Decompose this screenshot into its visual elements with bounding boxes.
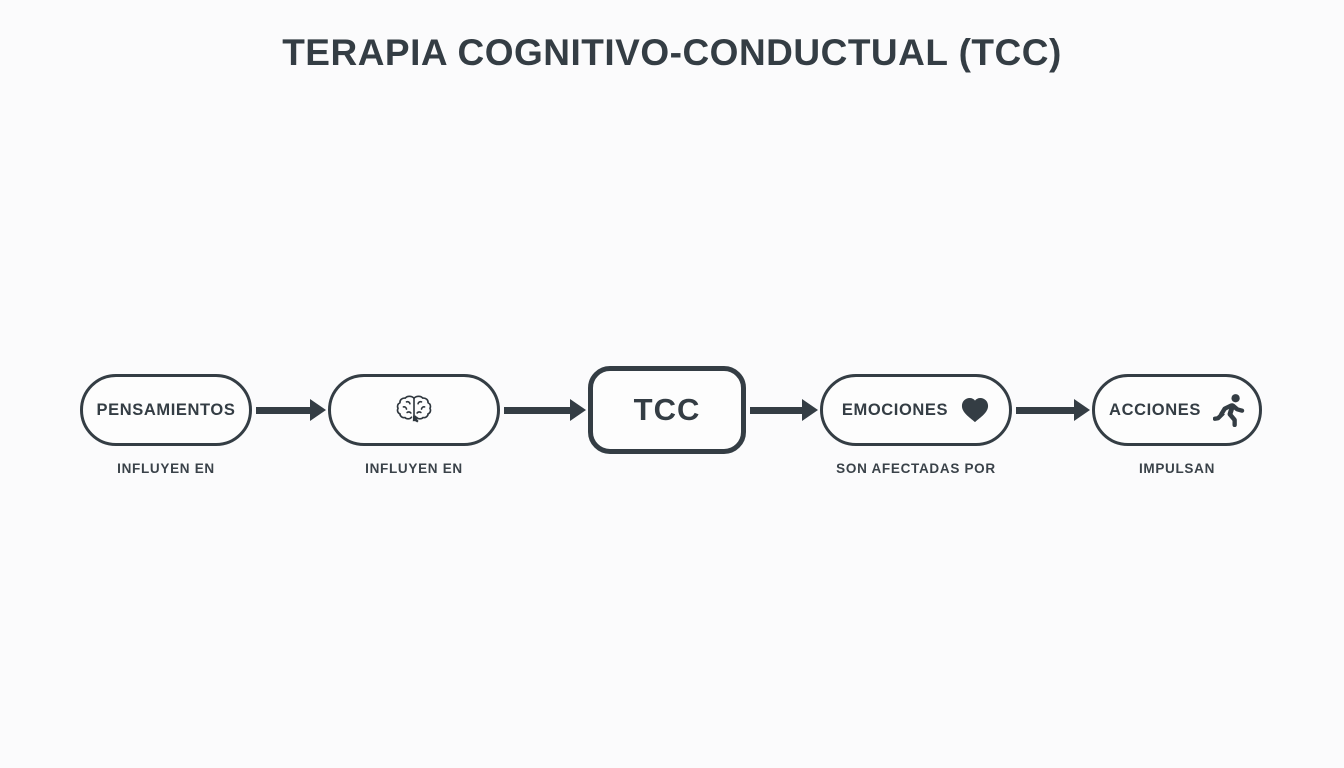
node-pensamientos[interactable]: PENSAMIENTOS <box>80 374 252 446</box>
flow-row: PENSAMIENTOS TCC <box>0 374 1344 446</box>
arrow-head-icon <box>1074 399 1090 421</box>
running-person-icon <box>1213 393 1245 427</box>
diagram-canvas: TERAPIA COGNITIVO-CONDUCTUAL (TCC) PENSA… <box>0 0 1344 768</box>
arrow-head-icon <box>570 399 586 421</box>
arrow-shaft <box>256 407 310 414</box>
connector-arrow-cerebro-tcc <box>504 402 586 418</box>
node-emociones[interactable]: EMOCIONES <box>820 374 1012 446</box>
node-cerebro[interactable] <box>328 374 500 446</box>
connector-arrow-emociones-acciones <box>1016 402 1090 418</box>
arrow-shaft <box>750 407 802 414</box>
caption-emociones: SON AFECTADAS POR <box>820 461 1012 476</box>
node-label: ACCIONES <box>1109 401 1201 420</box>
caption-cerebro: INFLUYEN EN <box>328 461 500 476</box>
caption-acciones: IMPULSAN <box>1092 461 1262 476</box>
connector-arrow-tcc-emociones <box>750 402 818 418</box>
brain-icon <box>394 390 434 430</box>
arrow-head-icon <box>802 399 818 421</box>
arrow-shaft <box>1016 407 1074 414</box>
node-label: EMOCIONES <box>842 401 948 420</box>
page-title: TERAPIA COGNITIVO-CONDUCTUAL (TCC) <box>0 32 1344 74</box>
heart-icon <box>960 396 990 424</box>
node-tcc[interactable]: TCC <box>588 366 746 454</box>
caption-pensamientos: INFLUYEN EN <box>80 461 252 476</box>
node-acciones[interactable]: ACCIONES <box>1092 374 1262 446</box>
node-label: TCC <box>634 392 701 428</box>
arrow-shaft <box>504 407 570 414</box>
arrow-head-icon <box>310 399 326 421</box>
connector-arrow-pensamientos-cerebro <box>256 402 326 418</box>
node-label: PENSAMIENTOS <box>97 401 236 420</box>
